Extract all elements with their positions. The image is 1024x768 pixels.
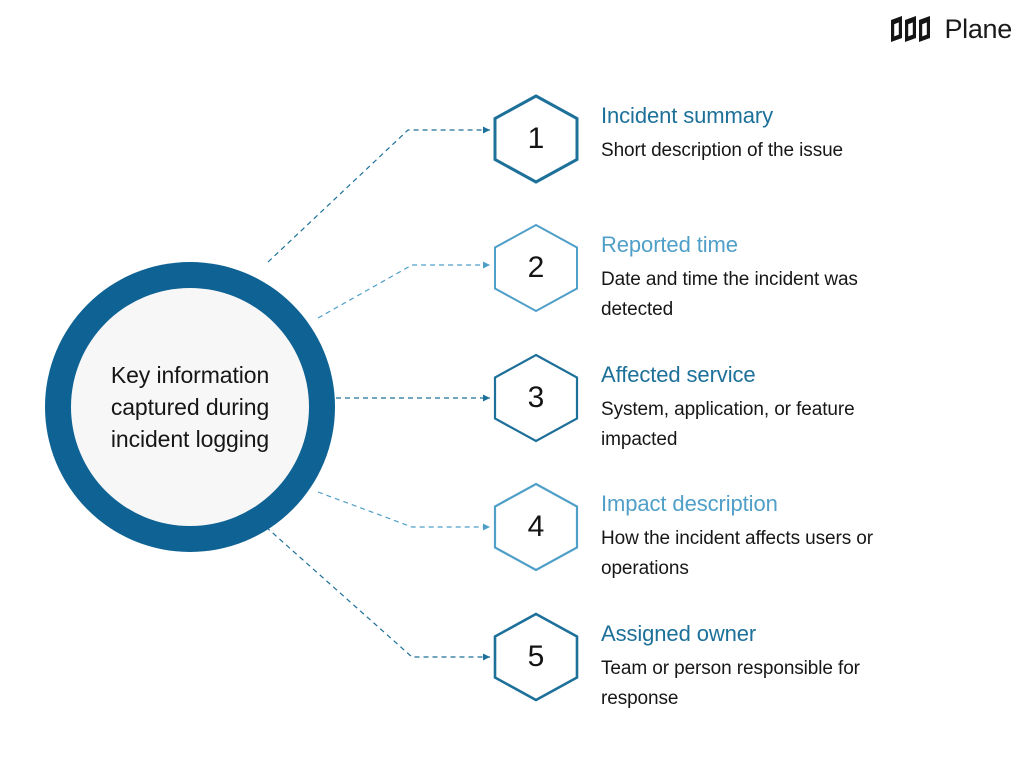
central-circle-label: Key information captured during incident… [111, 359, 269, 455]
connector-5 [266, 527, 490, 657]
central-circle-line-3: incident logging [111, 423, 269, 455]
step-description-2: Date and time the incident was detected [601, 265, 921, 325]
central-circle-line-2: captured during [111, 391, 269, 423]
hexagon-badge-3: 3 [492, 352, 580, 444]
step-number-5: 5 [492, 611, 580, 703]
step-title-2: Reported time [601, 231, 921, 258]
step-number-2: 2 [492, 222, 580, 314]
central-circle-line-1: Key information [111, 359, 269, 391]
hexagon-badge-1: 1 [492, 93, 580, 185]
step-number-4: 4 [492, 481, 580, 573]
step-text-3: Affected service System, application, or… [580, 352, 921, 455]
step-item-4[interactable]: 4 Impact description How the incident af… [492, 481, 921, 584]
step-item-3[interactable]: 3 Affected service System, application, … [492, 352, 921, 455]
step-title-1: Incident summary [601, 102, 843, 129]
step-item-2[interactable]: 2 Reported time Date and time the incide… [492, 222, 921, 325]
connector-2 [318, 265, 490, 318]
step-title-4: Impact description [601, 490, 921, 517]
step-title-3: Affected service [601, 361, 921, 388]
step-text-4: Impact description How the incident affe… [580, 481, 921, 584]
step-description-3: System, application, or feature impacted [601, 395, 921, 455]
step-number-1: 1 [492, 93, 580, 185]
connector-4 [318, 492, 490, 527]
step-text-2: Reported time Date and time the incident… [580, 222, 921, 325]
step-item-5[interactable]: 5 Assigned owner Team or person responsi… [492, 611, 921, 714]
connector-1 [268, 130, 490, 262]
step-title-5: Assigned owner [601, 620, 921, 647]
central-circle-inner: Key information captured during incident… [71, 288, 309, 526]
step-description-1: Short description of the issue [601, 136, 843, 166]
hexagon-badge-2: 2 [492, 222, 580, 314]
step-description-5: Team or person responsible for response [601, 654, 921, 714]
step-text-1: Incident summary Short description of th… [580, 93, 843, 166]
step-description-4: How the incident affects users or operat… [601, 524, 921, 584]
step-number-3: 3 [492, 352, 580, 444]
hexagon-badge-4: 4 [492, 481, 580, 573]
hexagon-badge-5: 5 [492, 611, 580, 703]
step-text-5: Assigned owner Team or person responsibl… [580, 611, 921, 714]
central-concept-circle: Key information captured during incident… [45, 262, 335, 552]
step-item-1[interactable]: 1 Incident summary Short description of … [492, 93, 843, 185]
